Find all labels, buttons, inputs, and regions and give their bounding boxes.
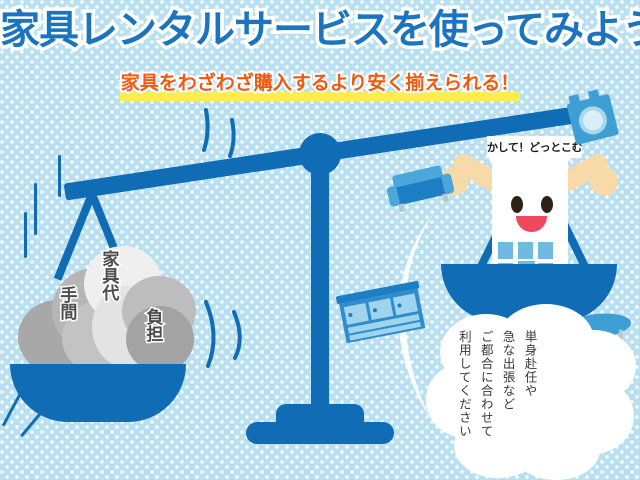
bubble-line: 単身赴任や — [518, 330, 540, 458]
poster-canvas: 家具レンタルサービスを使ってみよう 家具をわざわざ購入するより安く揃えられる！ … — [0, 0, 640, 480]
bubble-line: 利用してください — [452, 330, 474, 458]
bubble-line: ご都合に合わせて — [474, 330, 496, 458]
mascot-window — [538, 242, 553, 259]
mascot-right-eye — [541, 196, 553, 213]
mascot-sign: かして！どっとこむ — [487, 136, 582, 158]
lump-label-kagudai: 家具代 — [100, 250, 117, 301]
bubble-text: 単身赴任や 急な出張など ご都合に合わせて 利用してください — [452, 330, 540, 458]
bubble-line: 急な出張など — [496, 330, 518, 458]
mascot-window — [518, 242, 533, 259]
mascot-window — [498, 242, 513, 259]
lump-label-futan: 負担 — [144, 308, 161, 342]
mascot-left-eye — [511, 196, 523, 213]
lump-label-tema: 手間 — [58, 286, 75, 320]
